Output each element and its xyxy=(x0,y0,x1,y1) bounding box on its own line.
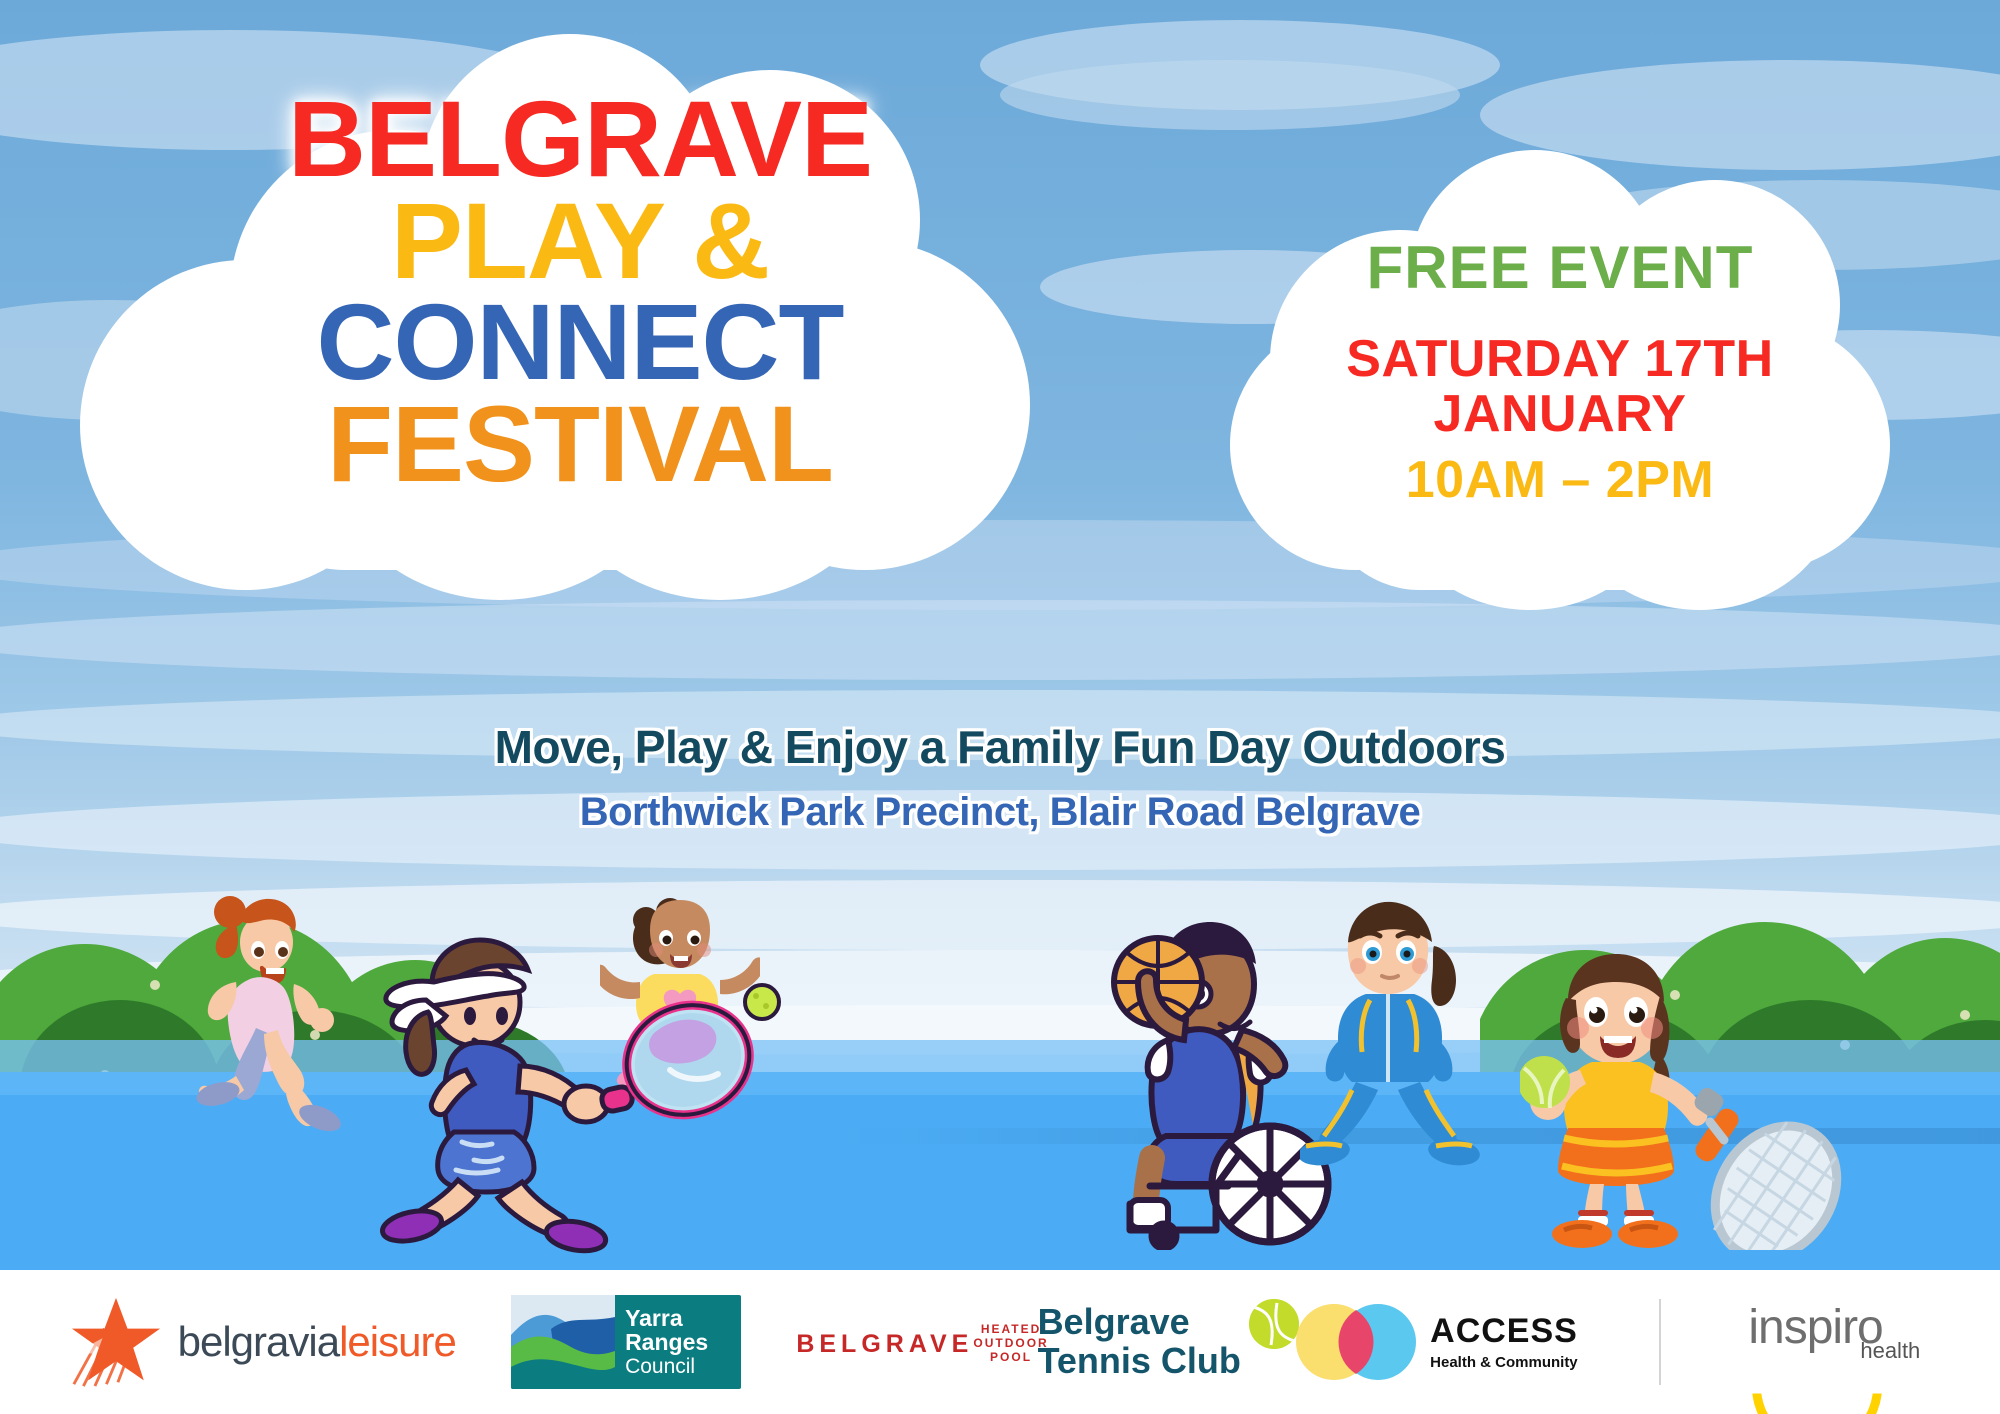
ranges-line: Ranges xyxy=(625,1330,741,1354)
event-date: SATURDAY 17TH JANUARY xyxy=(1230,332,1890,442)
tagline-secondary: Borthwick Park Precinct, Blair Road Belg… xyxy=(0,790,2000,835)
sponsor-belgravia-leisure: belgravialeisure xyxy=(68,1296,456,1388)
tagline-block: Move, Play & Enjoy a Family Fun Day Outd… xyxy=(0,720,2000,835)
access-tagline: Health & Community xyxy=(1430,1354,1578,1371)
star-icon xyxy=(68,1296,164,1388)
poster-title: BELGRAVE PLAY & CONNECT FESTIVAL xyxy=(80,88,1080,494)
event-poster: BELGRAVE PLAY & CONNECT FESTIVAL FREE EV… xyxy=(0,0,2000,1414)
event-details-cloud: FREE EVENT SATURDAY 17TH JANUARY 10AM – … xyxy=(1230,150,1890,630)
access-name: ACCESS xyxy=(1430,1314,1578,1348)
tennis-line-1: Belgrave xyxy=(1038,1303,1241,1342)
belgravia-word: belgravia xyxy=(178,1318,339,1365)
title-line-2: PLAY & xyxy=(80,190,1080,292)
sponsor-logo-bar: belgravialeisure Yarra Ranges Council xyxy=(0,1270,2000,1414)
sponsor-belgrave-tennis-club: Belgrave Tennis Club xyxy=(1038,1303,1241,1381)
mountain-landscape-icon xyxy=(511,1295,615,1389)
yarra-line: Yarra xyxy=(625,1306,741,1330)
title-line-3: CONNECT xyxy=(80,291,1080,393)
title-line-1: BELGRAVE xyxy=(80,88,1080,190)
venn-circles-icon xyxy=(1296,1304,1416,1380)
sponsor-inspiro-health: inspiro health xyxy=(1742,1294,1932,1390)
title-cloud: BELGRAVE PLAY & CONNECT FESTIVAL xyxy=(80,10,1080,650)
tagline-primary: Move, Play & Enjoy a Family Fun Day Outd… xyxy=(0,720,2000,774)
sponsor-label: belgravialeisure xyxy=(178,1318,456,1366)
tennis-ball-icon xyxy=(1249,1299,1299,1349)
council-line: Council xyxy=(625,1355,741,1378)
logo-divider xyxy=(1659,1299,1661,1385)
sponsor-label: ACCESS Health & Community xyxy=(1430,1314,1578,1371)
inspiro-subtitle: health xyxy=(1860,1338,1920,1364)
tennis-line-2: Tennis Club xyxy=(1038,1342,1241,1381)
stretching-girl xyxy=(1300,890,1520,1190)
event-time: 10AM – 2PM xyxy=(1230,454,1890,506)
running-girl xyxy=(170,880,390,1180)
sponsor-label: Yarra Ranges Council xyxy=(615,1306,741,1377)
sponsor-label: Belgrave Tennis Club xyxy=(1038,1303,1241,1381)
pickleball-player-girl xyxy=(370,920,790,1260)
pool-name: BELGRAVE xyxy=(796,1330,973,1359)
leisure-word: leisure xyxy=(339,1318,456,1365)
event-details: FREE EVENT SATURDAY 17TH JANUARY 10AM – … xyxy=(1230,238,1890,506)
sponsor-belgrave-heated-outdoor-pool: BELGRAVE HEATED OUTDOOR POOL xyxy=(796,1307,982,1377)
title-line-4: FESTIVAL xyxy=(80,393,1080,495)
sponsor-yarra-ranges-council: Yarra Ranges Council xyxy=(511,1295,741,1389)
tennis-girl xyxy=(1520,940,1880,1250)
sponsor-access-health-and-community: ACCESS Health & Community xyxy=(1296,1304,1578,1380)
free-event-badge: FREE EVENT xyxy=(1230,238,1890,298)
